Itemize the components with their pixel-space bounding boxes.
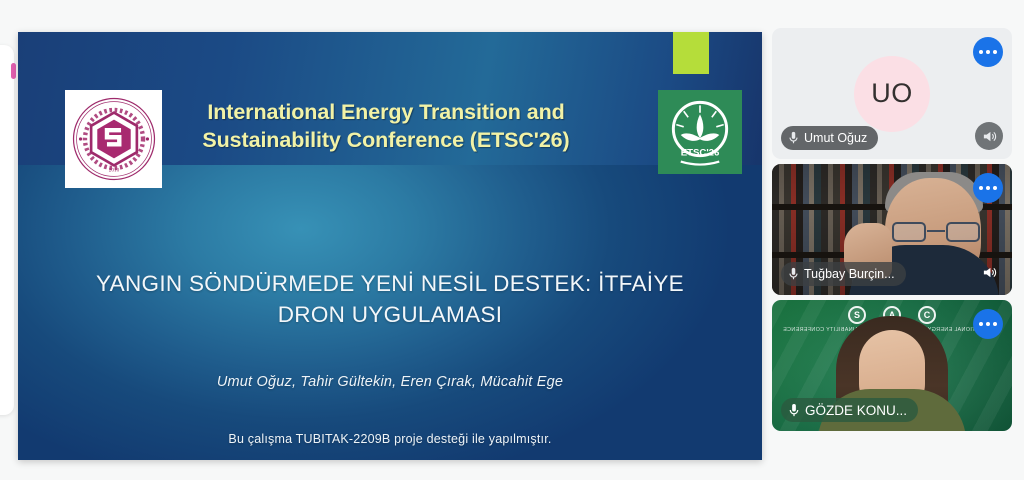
speaker-button[interactable] (975, 122, 1003, 150)
speaker-icon (982, 265, 997, 280)
offscreen-participant-panel[interactable] (0, 45, 14, 415)
presentation-title: YANGIN SÖNDÜRMEDE YENİ NESİL DESTEK: İTF… (88, 268, 692, 330)
offscreen-participant-accent (11, 63, 16, 79)
participant-tile-tugbay-burcin[interactable]: Tuğbay Burçin... (772, 164, 1012, 295)
funding-note: Bu çalışma TUBITAK-2209B proje desteği i… (88, 432, 692, 446)
dot-icon (993, 186, 997, 190)
microphone-icon (788, 267, 799, 281)
avatar-initials: UO (871, 78, 913, 109)
participant-tile-umut-oguz[interactable]: UO Umut Oğuz (772, 28, 1012, 159)
speaker-button[interactable] (975, 258, 1003, 286)
dot-icon (979, 50, 983, 54)
participant-name: Umut Oğuz (804, 131, 867, 145)
presentation-authors: Umut Oğuz, Tahir Gültekin, Eren Çırak, M… (88, 374, 692, 390)
dot-icon (986, 186, 990, 190)
lime-accent-bar (673, 32, 709, 74)
svg-text:2010: 2010 (108, 168, 119, 174)
participant-name-pill: Tuğbay Burçin... (781, 262, 906, 286)
microphone-icon (788, 131, 799, 145)
background-logo-icon: C (918, 306, 936, 324)
participant-name: GÖZDE KONU... (805, 403, 907, 418)
more-options-button[interactable] (973, 37, 1003, 67)
participant-rail: UO Umut Oğuz (772, 28, 1012, 436)
dot-icon (979, 186, 983, 190)
etsc-badge-label: ETSC'26 (681, 148, 720, 159)
conference-header-title: International Energy Transition and Sust… (136, 98, 636, 155)
participant-name-pill: GÖZDE KONU... (781, 398, 918, 422)
meeting-screen: 2010 International Energy Transition and… (0, 0, 1024, 480)
microphone-icon (788, 403, 800, 418)
background-logo-icon: S (848, 306, 866, 324)
speaker-icon (982, 129, 997, 144)
etsc-conference-badge: ETSC'26 (658, 90, 742, 174)
dot-icon (986, 322, 990, 326)
shared-screen-slide[interactable]: 2010 International Energy Transition and… (18, 32, 762, 460)
etsc-emblem-icon: ETSC'26 (663, 95, 737, 169)
participant-name: Tuğbay Burçin... (804, 267, 895, 281)
glasses-icon (892, 222, 980, 242)
dot-icon (986, 50, 990, 54)
dot-icon (979, 322, 983, 326)
participant-name-pill: Umut Oğuz (781, 126, 878, 150)
more-options-button[interactable] (973, 173, 1003, 203)
avatar: UO (854, 56, 930, 132)
dot-icon (993, 50, 997, 54)
dot-icon (993, 322, 997, 326)
more-options-button[interactable] (973, 309, 1003, 339)
participant-tile-gozde-konu[interactable]: S A C INTERNATIONAL ENERGY TRANSITION AN… (772, 300, 1012, 431)
